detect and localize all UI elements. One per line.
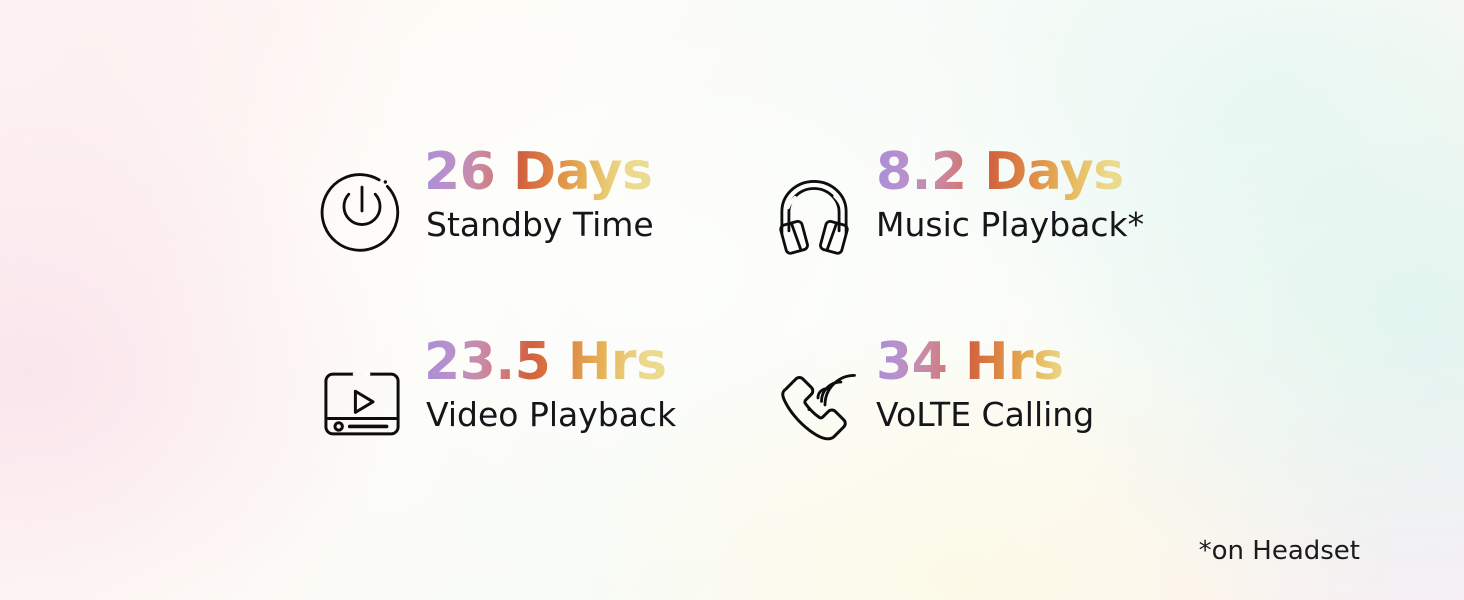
- feature-text-music-playback: 8.2 Days Music Playback*: [876, 138, 1144, 245]
- power-icon: [318, 170, 406, 258]
- headphones-icon: [770, 170, 858, 258]
- battery-specs-banner: 26 Days Standby Time: [0, 0, 1464, 600]
- feature-label: Standby Time: [426, 206, 654, 245]
- feature-value: 23.5 Hrs: [424, 334, 676, 390]
- feature-label: Video Playback: [426, 396, 676, 435]
- feature-item-music-playback: 8.2 Days Music Playback*: [770, 138, 1218, 328]
- feature-item-video-playback: 23.5 Hrs Video Playback: [318, 328, 770, 478]
- phone-call-icon: [770, 360, 858, 448]
- feature-value: 34 Hrs: [876, 334, 1094, 390]
- feature-item-standby-time: 26 Days Standby Time: [318, 138, 770, 328]
- feature-text-video-playback: 23.5 Hrs Video Playback: [424, 328, 676, 435]
- feature-label: VoLTE Calling: [876, 396, 1094, 435]
- feature-text-volte-calling: 34 Hrs VoLTE Calling: [876, 328, 1094, 435]
- video-player-icon: [318, 360, 406, 448]
- feature-value: 8.2 Days: [876, 144, 1144, 200]
- feature-item-volte-calling: 34 Hrs VoLTE Calling: [770, 328, 1218, 478]
- feature-label: Music Playback*: [876, 206, 1144, 245]
- feature-value: 26 Days: [424, 144, 654, 200]
- feature-text-standby-time: 26 Days Standby Time: [424, 138, 654, 245]
- footnote-on-headset: *on Headset: [1199, 536, 1360, 566]
- feature-grid: 26 Days Standby Time: [318, 138, 1218, 478]
